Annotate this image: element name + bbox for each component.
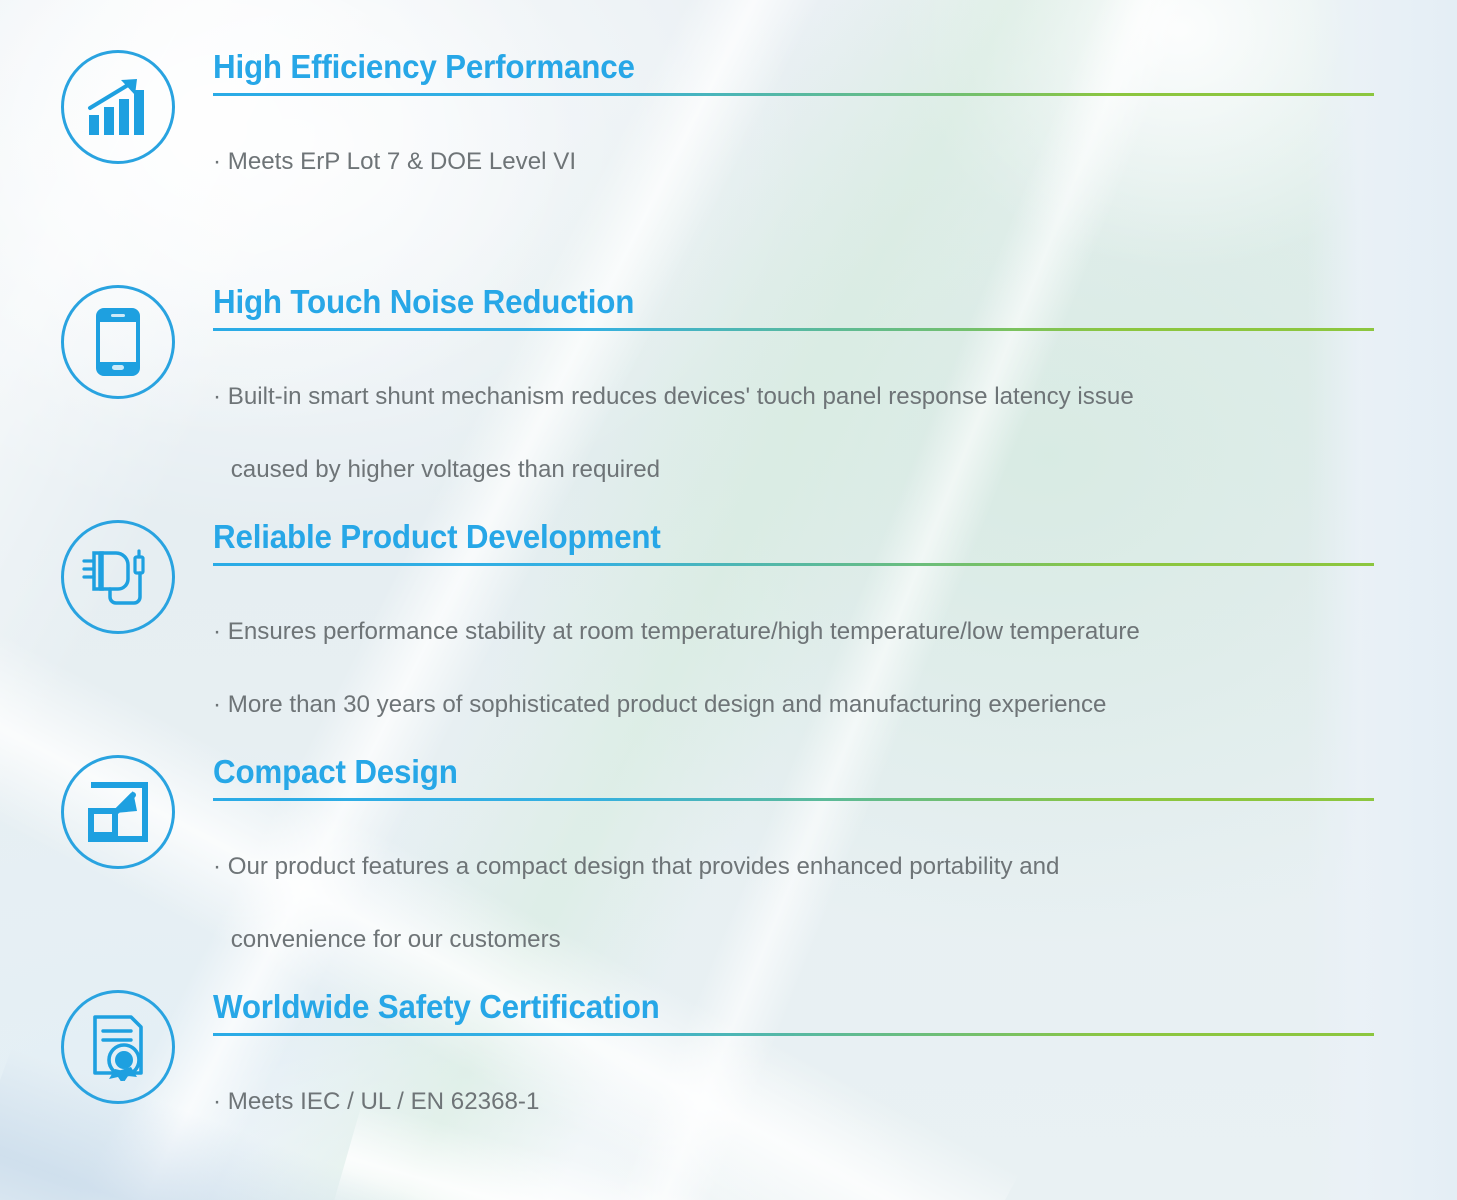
feature-title: Compact Design bbox=[213, 755, 1395, 788]
feature-title: High Touch Noise Reduction bbox=[213, 285, 1395, 318]
feature-icon-wrapper bbox=[61, 755, 179, 873]
feature-title: Reliable Product Development bbox=[213, 520, 1395, 553]
slide-canvas: High Efficiency Performance · Meets ErP … bbox=[0, 0, 1457, 1200]
feature-body: · Built-in smart shunt mechanism reduces… bbox=[213, 331, 1438, 525]
feature-text-block: Reliable Product Development · Ensures p… bbox=[213, 520, 1457, 760]
smartphone-icon bbox=[61, 285, 175, 399]
feature-text-block: Worldwide Safety Certification · Meets I… bbox=[213, 990, 1457, 1157]
compact-resize-icon bbox=[61, 755, 175, 869]
feature-body: · Ensures performance stability at room … bbox=[213, 566, 1438, 760]
feature-list: High Efficiency Performance · Meets ErP … bbox=[0, 0, 1457, 1200]
growth-bar-chart-icon bbox=[61, 50, 175, 164]
feature-bullet-line: · Ensures performance stability at room … bbox=[213, 614, 1438, 651]
power-adapter-icon bbox=[61, 520, 175, 634]
feature-text-block: High Efficiency Performance · Meets ErP … bbox=[213, 50, 1457, 217]
feature-icon-wrapper bbox=[61, 50, 179, 168]
feature-bullet-line: · Meets ErP Lot 7 & DOE Level VI bbox=[213, 144, 1438, 181]
feature-bullet-line-cont: convenience for our customers bbox=[213, 922, 1438, 959]
feature-bullet-line: · Built-in smart shunt mechanism reduces… bbox=[213, 379, 1438, 416]
feature-text-block: Compact Design · Our product features a … bbox=[213, 755, 1457, 995]
feature-text-block: High Touch Noise Reduction · Built-in sm… bbox=[213, 285, 1457, 525]
feature-body: · Meets ErP Lot 7 & DOE Level VI bbox=[213, 96, 1438, 217]
feature-body: · Our product features a compact design … bbox=[213, 801, 1438, 995]
feature-bullet-line: · Meets IEC / UL / EN 62368-1 bbox=[213, 1084, 1438, 1121]
feature-title: High Efficiency Performance bbox=[213, 50, 1395, 83]
feature-icon-wrapper bbox=[61, 520, 179, 638]
feature-icon-wrapper bbox=[61, 990, 179, 1108]
feature-icon-wrapper bbox=[61, 285, 179, 403]
feature-body: · Meets IEC / UL / EN 62368-1 bbox=[213, 1036, 1438, 1157]
feature-bullet-line-cont: caused by higher voltages than required bbox=[213, 452, 1438, 489]
feature-bullet-line: · Our product features a compact design … bbox=[213, 849, 1438, 886]
feature-bullet-line: · More than 30 years of sophisticated pr… bbox=[213, 687, 1438, 724]
certificate-seal-icon bbox=[61, 990, 175, 1104]
feature-title: Worldwide Safety Certification bbox=[213, 990, 1395, 1023]
